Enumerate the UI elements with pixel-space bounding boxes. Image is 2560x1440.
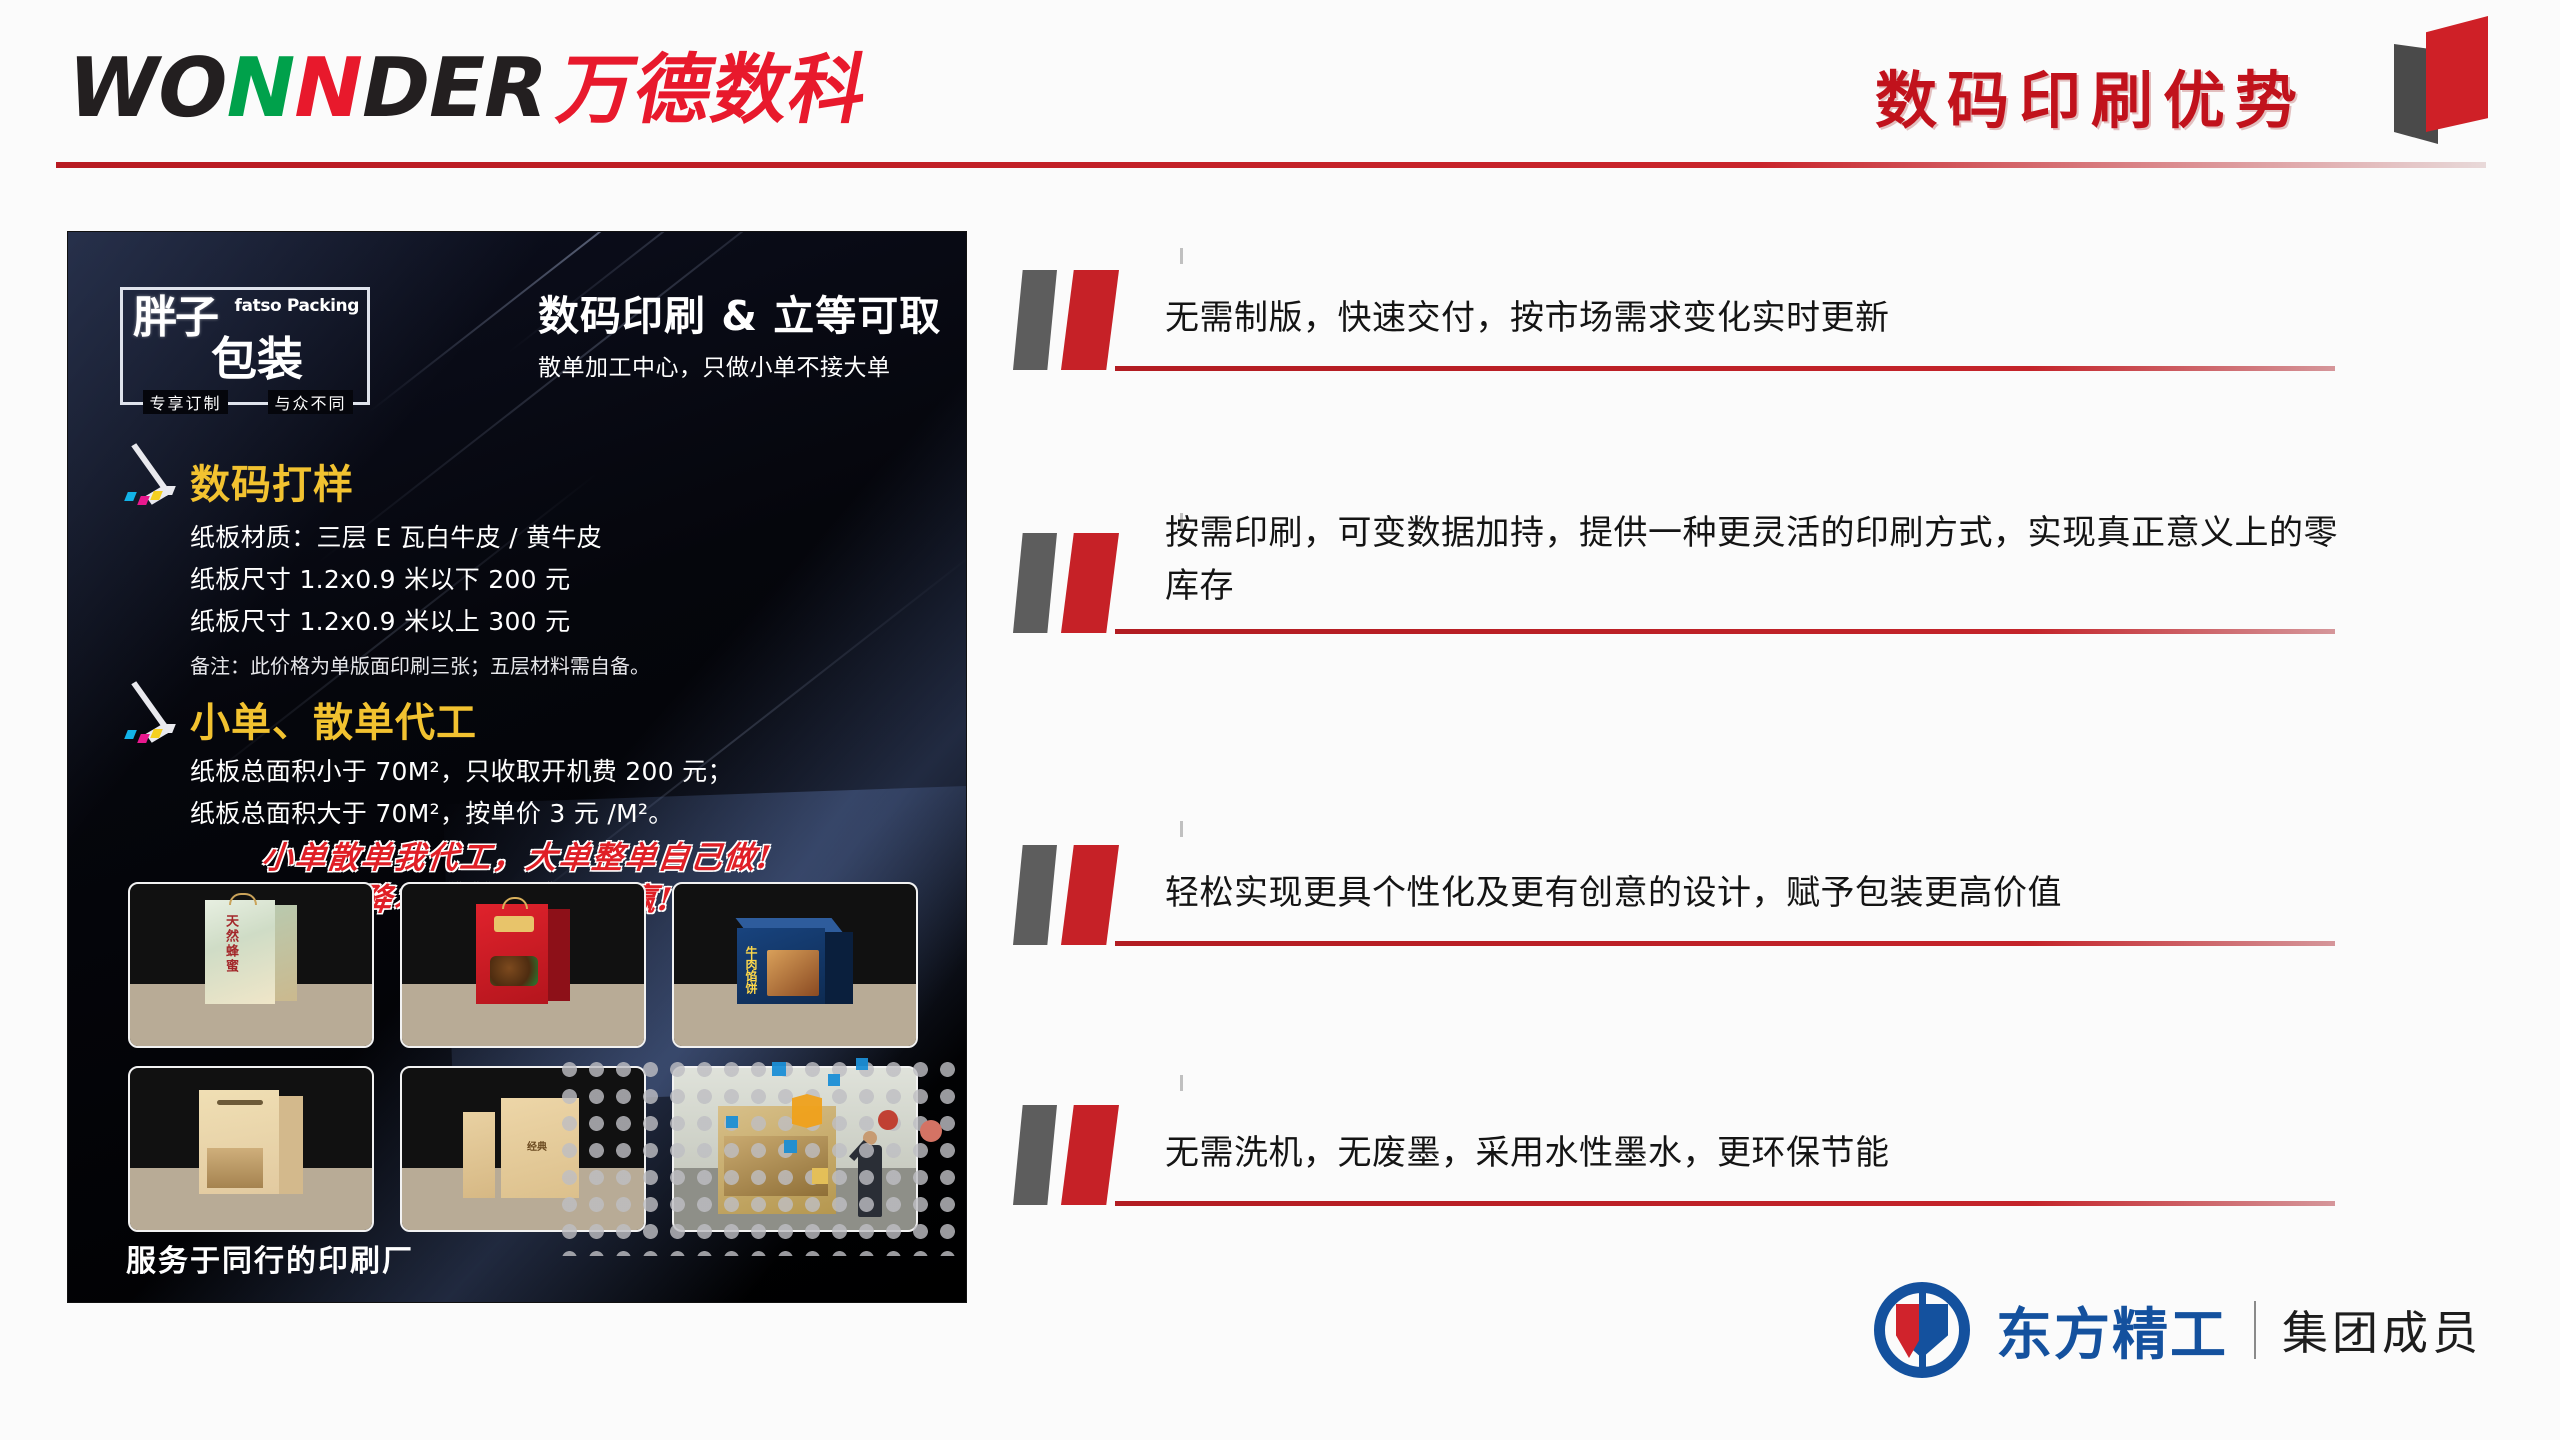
wonder-brand-logo: WO N N DER 万德数科 bbox=[60, 48, 876, 130]
advantage-underline-3 bbox=[1115, 941, 2335, 946]
box-side-face bbox=[548, 909, 570, 1001]
footer-member-label: 集团成员 bbox=[2282, 1297, 2482, 1363]
box-render: 天然蜂蜜 bbox=[205, 900, 297, 1004]
advantage-text-2: 按需印刷，可变数据加持，提供一种更灵活的印刷方式，实现真正意义上的零库存 bbox=[1165, 507, 2340, 612]
poster-section1-line2: 纸板尺寸 1.2x0.9 米以下 200 元 bbox=[190, 562, 570, 598]
box-food-image bbox=[490, 956, 538, 986]
halftone-accent-red bbox=[878, 1110, 898, 1130]
page-header: WO N N DER 万德数科 数码印刷优势 bbox=[0, 0, 2560, 172]
footer-divider bbox=[2254, 1301, 2256, 1359]
poster-streak bbox=[317, 232, 917, 564]
fatso-packing-logo: 胖子 fatso Packing 包装 专享订制 与众不同 bbox=[120, 287, 370, 405]
halftone-accent-red bbox=[920, 1120, 942, 1142]
box-side-face bbox=[825, 932, 853, 1004]
corner-ribbon-red-shape bbox=[2426, 16, 2488, 132]
cmyk-dot-cyan bbox=[124, 730, 137, 739]
box-food-image bbox=[767, 950, 819, 996]
box-scene-print bbox=[207, 1148, 263, 1188]
fatso-logo-en: fatso Packing bbox=[235, 296, 359, 316]
bullet-marker-grey bbox=[1013, 533, 1057, 633]
box-side-face bbox=[275, 905, 297, 1001]
cmyk-dot-cyan bbox=[124, 492, 137, 501]
box-label-text: 经典 bbox=[527, 1138, 547, 1153]
tick-mark bbox=[1180, 821, 1183, 837]
bullet-marker-grey bbox=[1013, 845, 1057, 945]
cmyk-dot-magenta bbox=[137, 734, 150, 743]
poster-section1-title: 数码打样 bbox=[190, 452, 354, 510]
box-side-face bbox=[279, 1096, 303, 1194]
halftone-accent-blue bbox=[784, 1140, 797, 1153]
fatso-tagline-right: 与众不同 bbox=[268, 390, 352, 414]
box-label-text: 天然蜂蜜 bbox=[221, 914, 240, 974]
box-gold-badge bbox=[494, 916, 534, 932]
product-photo-red-gift-box bbox=[400, 882, 646, 1048]
halftone-accent-blue bbox=[856, 1058, 868, 1070]
poster-footer-text: 服务于同行的印刷厂 bbox=[126, 1236, 414, 1280]
product-photo-honey-gift-box: 天然蜂蜜 bbox=[128, 882, 374, 1048]
bullet-marker-icon bbox=[1005, 533, 1155, 633]
box-render bbox=[199, 1090, 303, 1194]
poster-headline: 数码印刷 & 立等可取 bbox=[538, 294, 948, 339]
chevron-arrow-icon bbox=[120, 460, 182, 508]
poster-subheadline: 散单加工中心，只做小单不接大单 bbox=[538, 348, 958, 382]
dongfang-jinggong-footer-logo: 东方精工 集团成员 bbox=[1874, 1282, 2482, 1378]
poster-slogan-line1: 小单散单我代工，大单整单自己做! bbox=[68, 838, 966, 880]
bullet-marker-grey bbox=[1013, 1105, 1057, 1205]
bullet-marker-red bbox=[1061, 270, 1119, 370]
halftone-dot-pattern bbox=[556, 1056, 966, 1256]
bullet-marker-red bbox=[1061, 1105, 1119, 1205]
box-label-text: 牛肉馅饼 bbox=[743, 946, 760, 994]
bullet-marker-icon bbox=[1005, 1105, 1155, 1205]
halftone-accent-yellow bbox=[812, 1168, 828, 1184]
brand-part-wo: WO bbox=[60, 48, 234, 130]
advantage-underline-1 bbox=[1115, 366, 2335, 371]
promo-poster-image: 胖子 fatso Packing 包装 专享订制 与众不同 数码印刷 & 立等可… bbox=[68, 232, 966, 1302]
cmyk-dot-key bbox=[163, 724, 176, 733]
product-photo-kraft-scene-box bbox=[128, 1066, 374, 1232]
poster-section2-line1: 纸板总面积小于 70M²，只收取开机费 200 元； bbox=[190, 754, 733, 790]
corner-ribbon-icon bbox=[2382, 8, 2498, 158]
poster-section1-note: 备注：此价格为单版面印刷三张；五层材料需自备。 bbox=[190, 650, 650, 679]
cmyk-dot-key bbox=[163, 486, 176, 495]
advantage-text-4: 无需洗机，无废墨，采用水性墨水，更环保节能 bbox=[1165, 1127, 2340, 1180]
poster-section2-line2: 纸板总面积大于 70M²，按单价 3 元 /M²。 bbox=[190, 796, 674, 832]
box-front-face bbox=[476, 904, 548, 1004]
poster-section1-line1: 纸板材质：三层 E 瓦白牛皮 / 黄牛皮 bbox=[190, 520, 602, 556]
advantage-underline-4 bbox=[1115, 1201, 2335, 1206]
fatso-logo-cn: 胖子 bbox=[133, 296, 217, 340]
box-handle-slot bbox=[217, 1100, 263, 1105]
advantage-underline-2 bbox=[1115, 629, 2335, 634]
bullet-marker-grey bbox=[1013, 270, 1057, 370]
bullet-marker-red bbox=[1061, 845, 1119, 945]
fatso-logo-tagline: 专享订制 与众不同 bbox=[123, 390, 373, 414]
fatso-logo-pack: 包装 bbox=[211, 336, 303, 382]
halftone-accent-blue bbox=[726, 1116, 738, 1128]
box-render: 牛肉馅饼 bbox=[737, 918, 853, 1004]
bullet-marker-red bbox=[1061, 533, 1119, 633]
product-photo-blue-beef-box: 牛肉馅饼 bbox=[672, 882, 918, 1048]
box-handle bbox=[502, 897, 528, 909]
box-render bbox=[476, 904, 570, 1004]
poster-section2-title: 小单、散单代工 bbox=[190, 690, 477, 748]
halftone-accent-blue bbox=[828, 1074, 840, 1086]
box-narrow-carton bbox=[463, 1112, 495, 1198]
halftone-accent-blue bbox=[772, 1062, 786, 1076]
footer-company-name: 东方精工 bbox=[1996, 1290, 2228, 1371]
box-front-face: 天然蜂蜜 bbox=[205, 900, 275, 1004]
tick-mark bbox=[1180, 248, 1183, 264]
poster-section1-line3: 纸板尺寸 1.2x0.9 米以上 300 元 bbox=[190, 604, 570, 640]
page-title: 数码印刷优势 bbox=[1875, 50, 2307, 140]
halftone-accent-orange bbox=[792, 1094, 822, 1128]
box-front-face bbox=[199, 1090, 279, 1194]
box-front-face: 牛肉馅饼 bbox=[737, 928, 825, 1004]
brand-part-der: DER bbox=[353, 48, 553, 130]
tick-mark bbox=[1180, 1075, 1183, 1091]
dongfang-emblem-icon bbox=[1874, 1282, 1970, 1378]
bullet-marker-icon bbox=[1005, 270, 1155, 370]
advantage-text-3: 轻松实现更具个性化及更有创意的设计，赋予包装更高价值 bbox=[1165, 867, 2340, 920]
header-divider bbox=[56, 162, 2486, 168]
advantage-text-1: 无需制版，快速交付，按市场需求变化实时更新 bbox=[1165, 292, 2340, 345]
emblem-stem bbox=[1919, 1288, 1926, 1372]
brand-wordmark-cn: 万德数科 bbox=[552, 52, 875, 128]
brand-wordmark-en: WO N N DER bbox=[60, 48, 554, 130]
box-handle bbox=[229, 893, 257, 905]
bullet-marker-icon bbox=[1005, 845, 1155, 945]
chevron-arrow-icon bbox=[120, 698, 182, 746]
cmyk-dot-magenta bbox=[137, 496, 150, 505]
fatso-tagline-left: 专享订制 bbox=[143, 390, 227, 414]
